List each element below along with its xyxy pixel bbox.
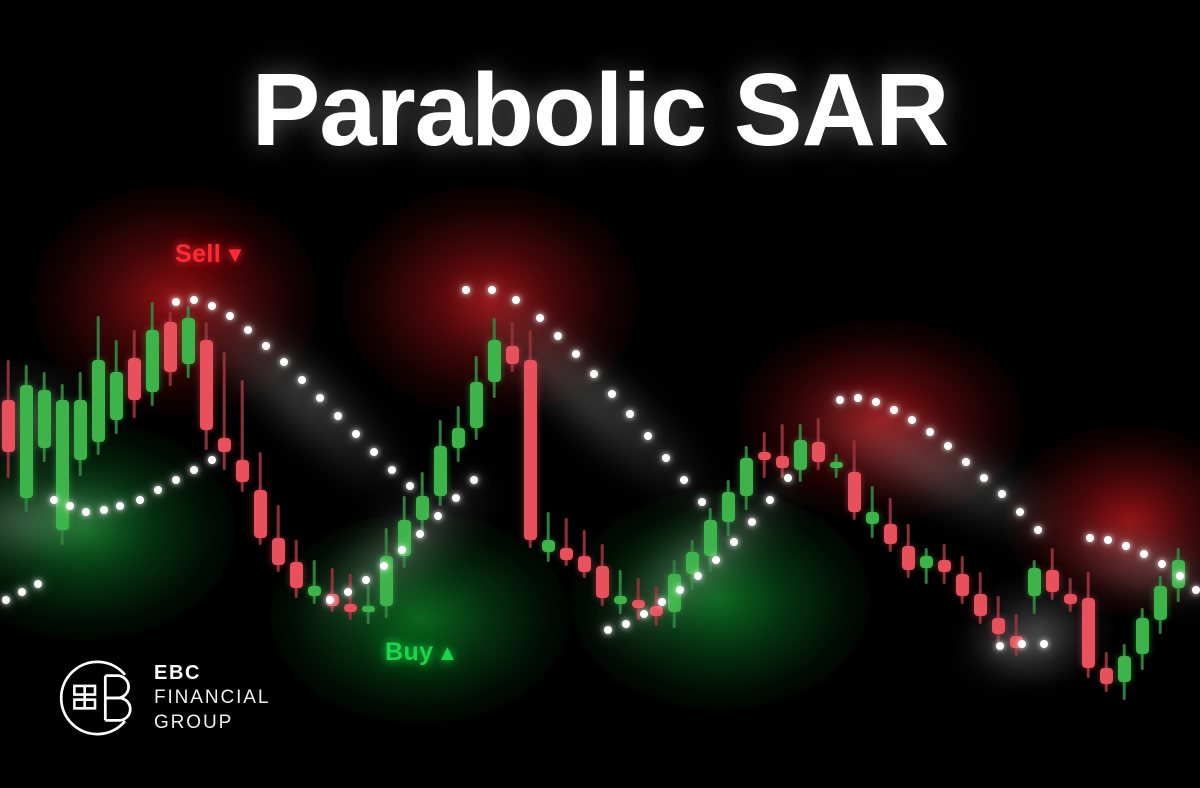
- sar-dot: [1122, 542, 1130, 550]
- candlestick: [776, 424, 789, 478]
- sar-dot: [748, 518, 756, 526]
- candlestick: [416, 472, 429, 534]
- candle-body: [956, 574, 969, 596]
- sell-arrow-icon: ▼: [224, 242, 246, 267]
- sar-dot: [280, 358, 288, 366]
- candle-body: [452, 428, 465, 448]
- candlestick: [794, 424, 807, 482]
- candle-body: [470, 382, 483, 428]
- sar-dot: [712, 556, 720, 564]
- sar-dot: [694, 572, 702, 580]
- candle-body: [344, 604, 357, 612]
- candle-wick: [781, 424, 784, 478]
- candlestick: [992, 596, 1005, 642]
- candle-body: [812, 442, 825, 462]
- candle-body: [2, 400, 15, 452]
- candle-body: [974, 594, 987, 616]
- sar-dot: [1086, 534, 1094, 542]
- candle-body: [362, 606, 375, 612]
- candle-body: [236, 460, 249, 482]
- candle-body: [758, 452, 771, 460]
- ebc-logo-text: EBC FINANCIAL GROUP: [154, 661, 270, 735]
- candlestick: [722, 480, 735, 536]
- candlestick: [1082, 572, 1095, 678]
- sar-dot: [698, 498, 706, 506]
- candle-body: [290, 562, 303, 588]
- sar-dot: [590, 370, 598, 378]
- sar-dot: [536, 314, 544, 322]
- buy-signal-text: Buy: [385, 638, 433, 666]
- page-title: Parabolic SAR: [0, 58, 1200, 161]
- candle-wick: [367, 586, 370, 624]
- sar-dot: [470, 476, 478, 484]
- sar-dot: [334, 412, 342, 420]
- candle-body: [722, 492, 735, 522]
- candlestick: [308, 560, 321, 604]
- candle-wick: [637, 578, 640, 620]
- candle-body: [272, 538, 285, 565]
- candle-body: [308, 586, 321, 596]
- candlestick: [614, 570, 627, 614]
- sar-dot: [644, 432, 652, 440]
- sar-dot: [190, 296, 198, 304]
- candle-body: [884, 524, 897, 544]
- candle-body: [1154, 586, 1167, 620]
- sar-dot: [172, 476, 180, 484]
- candlestick: [686, 540, 699, 590]
- candle-body: [254, 490, 267, 538]
- candle-body: [218, 438, 231, 452]
- sar-dot: [1158, 560, 1166, 568]
- sar-dot: [1016, 508, 1024, 516]
- candle-body: [830, 462, 843, 468]
- candlestick: [362, 586, 375, 624]
- sar-dot: [326, 596, 334, 604]
- sar-dot: [784, 474, 792, 482]
- candlestick: [1064, 578, 1077, 612]
- candlestick: [650, 586, 663, 626]
- candlestick: [290, 540, 303, 598]
- sar-dot: [604, 626, 612, 634]
- sar-dot: [2, 596, 10, 604]
- sell-signal-text: Sell: [175, 240, 221, 268]
- candle-body: [146, 330, 159, 392]
- sar-dot: [488, 286, 496, 294]
- candle-body: [92, 360, 105, 442]
- candle-body: [902, 546, 915, 570]
- candlestick: [974, 572, 987, 624]
- candlestick: [110, 340, 123, 434]
- candle-body: [524, 360, 537, 540]
- sar-dot: [836, 396, 844, 404]
- candle-wick: [223, 352, 226, 470]
- sar-dot: [398, 546, 406, 554]
- sar-dot: [996, 642, 1004, 650]
- candlestick: [560, 518, 573, 566]
- candle-wick: [313, 560, 316, 604]
- sar-dot: [406, 482, 414, 490]
- sar-dot: [244, 326, 252, 334]
- sar-dot: [980, 474, 988, 482]
- candlestick: [938, 544, 951, 584]
- sar-dot: [608, 390, 616, 398]
- logo-line-1: EBC: [154, 661, 270, 687]
- candlestick: [830, 454, 843, 478]
- sar-dot: [766, 496, 774, 504]
- candlestick: [1046, 548, 1059, 600]
- candle-body: [740, 458, 753, 496]
- candle-body: [1136, 618, 1149, 654]
- candlestick: [596, 544, 609, 606]
- candlestick: [452, 406, 465, 462]
- candle-body: [1082, 598, 1095, 668]
- sar-dot: [18, 588, 26, 596]
- candlestick: [488, 318, 501, 398]
- sar-dot: [998, 490, 1006, 498]
- sar-dot: [962, 458, 970, 466]
- candle-body: [938, 560, 951, 572]
- sar-dot: [136, 496, 144, 504]
- logo-line-2: FINANCIAL: [154, 686, 270, 710]
- sar-dot: [434, 512, 442, 520]
- ebc-logo: EBC FINANCIAL GROUP: [52, 655, 270, 741]
- candlestick: [218, 352, 231, 470]
- parabolic-sar-graphic: Parabolic SAR Sell▼ Buy▲ EBC FINANCIAL G…: [0, 0, 1200, 788]
- candlestick: [236, 380, 249, 492]
- sar-dot: [82, 508, 90, 516]
- candlestick: [20, 365, 33, 512]
- candlestick: [578, 530, 591, 578]
- candle-wick: [349, 574, 352, 620]
- candle-body: [110, 372, 123, 420]
- sar-dot: [154, 486, 162, 494]
- candle-wick: [547, 512, 550, 562]
- sar-dot: [452, 494, 460, 502]
- candlestick: [1010, 614, 1023, 656]
- candlestick: [884, 498, 897, 552]
- sar-dot: [34, 580, 42, 588]
- candle-body: [992, 618, 1005, 634]
- logo-line-3: GROUP: [154, 711, 270, 735]
- candlestick: [470, 356, 483, 440]
- sell-signal-label: Sell▼: [175, 240, 246, 269]
- candlestick: [524, 330, 537, 548]
- sar-dot: [662, 454, 670, 462]
- buy-signal-label: Buy▲: [385, 638, 459, 667]
- sar-dot: [1040, 640, 1048, 648]
- candlestick: [542, 512, 555, 562]
- sar-dot: [226, 312, 234, 320]
- sar-dot: [298, 376, 306, 384]
- candlestick: [1118, 644, 1131, 700]
- candlestick: [272, 505, 285, 572]
- sar-dot: [626, 410, 634, 418]
- candle-body: [848, 472, 861, 512]
- candlestick: [1136, 608, 1149, 670]
- sar-dot: [676, 586, 684, 594]
- candle-body: [794, 440, 807, 470]
- sar-dot: [1104, 536, 1112, 544]
- candle-body: [542, 540, 555, 552]
- candle-body: [560, 548, 573, 560]
- candlestick: [182, 306, 195, 378]
- candlestick: [668, 560, 681, 628]
- sar-dot: [66, 502, 74, 510]
- candle-body: [686, 552, 699, 574]
- sar-dot: [416, 530, 424, 538]
- candle-body: [1100, 668, 1113, 684]
- sar-dot: [208, 302, 216, 310]
- sar-dot: [116, 502, 124, 510]
- sar-dot: [944, 442, 952, 450]
- candle-body: [1064, 594, 1077, 604]
- sar-dot: [262, 342, 270, 350]
- candle-body: [416, 496, 429, 520]
- candlestick: [956, 556, 969, 604]
- candlestick: [920, 548, 933, 584]
- sar-dot: [380, 562, 388, 570]
- sar-dot: [680, 476, 688, 484]
- candle-body: [182, 318, 195, 364]
- candle-body: [434, 446, 447, 496]
- candlestick: [128, 330, 141, 418]
- sar-dot: [926, 428, 934, 436]
- candle-body: [614, 596, 627, 604]
- candle-body: [776, 456, 789, 468]
- sar-dot: [172, 298, 180, 306]
- sar-dot: [1034, 526, 1042, 534]
- candle-body: [632, 600, 645, 608]
- candle-body: [1118, 656, 1131, 682]
- candle-body: [200, 340, 213, 430]
- candle-body: [128, 358, 141, 400]
- candle-body: [488, 340, 501, 382]
- sar-dot: [1018, 640, 1026, 648]
- candle-body: [920, 556, 933, 568]
- sar-dot: [512, 296, 520, 304]
- sar-dot: [640, 610, 648, 618]
- candlestick: [812, 418, 825, 470]
- candle-body: [74, 400, 87, 460]
- candle-body: [38, 390, 51, 448]
- candlestick: [758, 432, 771, 478]
- sar-dot: [854, 394, 862, 402]
- sar-dot: [50, 496, 58, 504]
- sar-dot: [388, 466, 396, 474]
- candlestick: [2, 360, 15, 478]
- candlestick: [848, 440, 861, 520]
- sar-dot: [370, 448, 378, 456]
- candlestick: [74, 372, 87, 476]
- sar-dot: [1140, 550, 1148, 558]
- candlestick: [326, 568, 339, 612]
- candle-body: [1046, 570, 1059, 592]
- sar-dot: [658, 598, 666, 606]
- candle-body: [20, 385, 33, 498]
- sar-dot: [572, 350, 580, 358]
- candle-body: [1028, 568, 1041, 596]
- candlestick: [254, 452, 267, 545]
- candlestick: [344, 574, 357, 620]
- candlestick: [380, 528, 393, 618]
- sar-dot: [352, 430, 360, 438]
- candle-body: [56, 400, 69, 530]
- sar-dot: [208, 456, 216, 464]
- candle-body: [596, 566, 609, 598]
- buy-arrow-icon: ▲: [436, 640, 458, 665]
- candlestick: [1154, 576, 1167, 634]
- candle-wick: [1015, 614, 1018, 656]
- candlestick: [506, 322, 519, 372]
- sar-dot: [554, 332, 562, 340]
- candle-body: [578, 556, 591, 572]
- candle-body: [866, 512, 879, 524]
- candlestick: [740, 446, 753, 510]
- candlestick: [434, 420, 447, 506]
- sar-dot: [890, 406, 898, 414]
- candle-body: [650, 606, 663, 616]
- candlestick: [1028, 560, 1041, 614]
- sar-dot: [316, 394, 324, 402]
- sar-dot: [190, 466, 198, 474]
- sar-dot: [344, 588, 352, 596]
- candle-body: [164, 322, 177, 372]
- sar-dot: [462, 286, 470, 294]
- candlestick: [398, 496, 411, 568]
- candle-body: [704, 520, 717, 556]
- sar-dot: [1192, 586, 1200, 594]
- candle-wick: [619, 570, 622, 614]
- sar-dot: [730, 538, 738, 546]
- sar-dot: [1176, 572, 1184, 580]
- candlestick: [866, 486, 879, 538]
- sar-dot: [100, 506, 108, 514]
- candlestick: [38, 372, 51, 462]
- sar-dot: [622, 620, 630, 628]
- sar-dot: [908, 416, 916, 424]
- candlestick: [1100, 652, 1113, 692]
- candlestick: [56, 384, 69, 545]
- candlestick: [92, 316, 105, 455]
- candlestick: [200, 322, 213, 450]
- candlestick: [164, 312, 177, 386]
- sar-dot: [362, 576, 370, 584]
- candle-body: [506, 346, 519, 364]
- sar-dot: [872, 398, 880, 406]
- ebc-monogram-icon: [52, 655, 138, 741]
- candlestick: [146, 302, 159, 406]
- candlestick: [902, 524, 915, 578]
